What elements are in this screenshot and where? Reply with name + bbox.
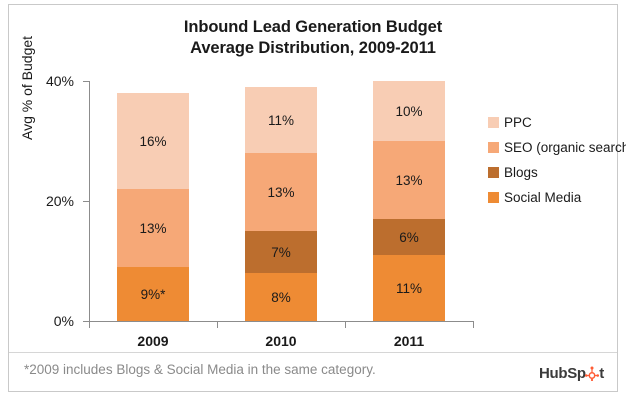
y-tick-1: 20% (83, 201, 89, 202)
chart-legend: PPCSEO (organic search)BlogsSocial Media (488, 110, 626, 210)
bar-segment[interactable]: 13% (373, 141, 445, 219)
bar-segment[interactable]: 10% (373, 81, 445, 141)
x-category-label-2011: 2011 (345, 333, 473, 349)
x-category-label-2010: 2010 (217, 333, 345, 349)
legend-label: Social Media (504, 190, 581, 205)
bar-segment-label: 10% (395, 104, 422, 119)
bar-segment-label: 9%* (141, 287, 166, 302)
bar-stack-2010[interactable]: 8%7%13%11% (245, 87, 317, 321)
x-tick-1 (217, 322, 218, 328)
chart-footnote: *2009 includes Blogs & Social Media in t… (24, 362, 376, 377)
bar-segment[interactable]: 6% (373, 219, 445, 255)
bar-segment-label: 8% (271, 290, 291, 305)
bar-segment-label: 13% (267, 185, 294, 200)
legend-label: PPC (504, 115, 532, 130)
legend-swatch-icon (488, 142, 499, 153)
bar-segment[interactable]: 16% (117, 93, 189, 189)
legend-swatch-icon (488, 167, 499, 178)
hubspot-sprocket-icon (585, 366, 599, 381)
bar-segment[interactable]: 11% (373, 255, 445, 321)
bar-stack-2009[interactable]: 9%*13%16% (117, 93, 189, 321)
y-tick-label-1: 20% (46, 193, 74, 209)
x-tick-3 (473, 322, 474, 328)
chart-screenshot: Inbound Lead Generation Budget Average D… (0, 0, 626, 400)
plot-area: 0% 20% 40% 9%*13%16%8%7%13%11%11%6%13%10… (89, 81, 474, 322)
legend-swatch-icon (488, 192, 499, 203)
legend-label: SEO (organic search) (504, 140, 626, 155)
legend-label: Blogs (504, 165, 538, 180)
hubspot-logo-text-a: HubSp (539, 366, 586, 381)
bar-segment-label: 13% (395, 173, 422, 188)
footer-divider (9, 352, 617, 353)
chart-title: Inbound Lead Generation Budget Average D… (9, 17, 617, 59)
bar-segment[interactable]: 11% (245, 87, 317, 153)
bar-segment[interactable]: 8% (245, 273, 317, 321)
bar-segment[interactable]: 7% (245, 231, 317, 273)
x-tick-2 (345, 322, 346, 328)
y-axis-line (89, 81, 90, 322)
bar-segment-label: 7% (271, 245, 291, 260)
legend-item-ppc[interactable]: PPC (488, 110, 626, 135)
bar-segment-label: 11% (396, 281, 422, 296)
legend-item-social-media[interactable]: Social Media (488, 185, 626, 210)
chart-title-line-1: Inbound Lead Generation Budget (9, 17, 617, 38)
bar-segment[interactable]: 13% (245, 153, 317, 231)
x-category-label-2009: 2009 (89, 333, 217, 349)
bar-segment[interactable]: 9%* (117, 267, 189, 321)
y-axis-title: Avg % of Budget (19, 36, 35, 140)
hubspot-logo-text-b: t (599, 366, 604, 381)
legend-item-blogs[interactable]: Blogs (488, 160, 626, 185)
x-tick-0 (89, 322, 90, 328)
bar-segment-label: 16% (139, 134, 166, 149)
x-axis-line (89, 321, 474, 322)
y-tick-2: 40% (83, 81, 89, 82)
y-tick-label-0: 0% (54, 313, 74, 329)
chart-title-line-2: Average Distribution, 2009-2011 (9, 38, 617, 59)
y-tick-label-2: 40% (46, 73, 74, 89)
legend-item-seo-organic-search[interactable]: SEO (organic search) (488, 135, 626, 160)
bar-segment-label: 6% (399, 230, 419, 245)
bar-segment[interactable]: 13% (117, 189, 189, 267)
bar-stack-2011[interactable]: 11%6%13%10% (373, 81, 445, 321)
hubspot-logo: HubSp t (539, 366, 604, 381)
bar-segment-label: 13% (139, 221, 166, 236)
bar-segment-label: 11% (268, 113, 294, 128)
legend-swatch-icon (488, 117, 499, 128)
